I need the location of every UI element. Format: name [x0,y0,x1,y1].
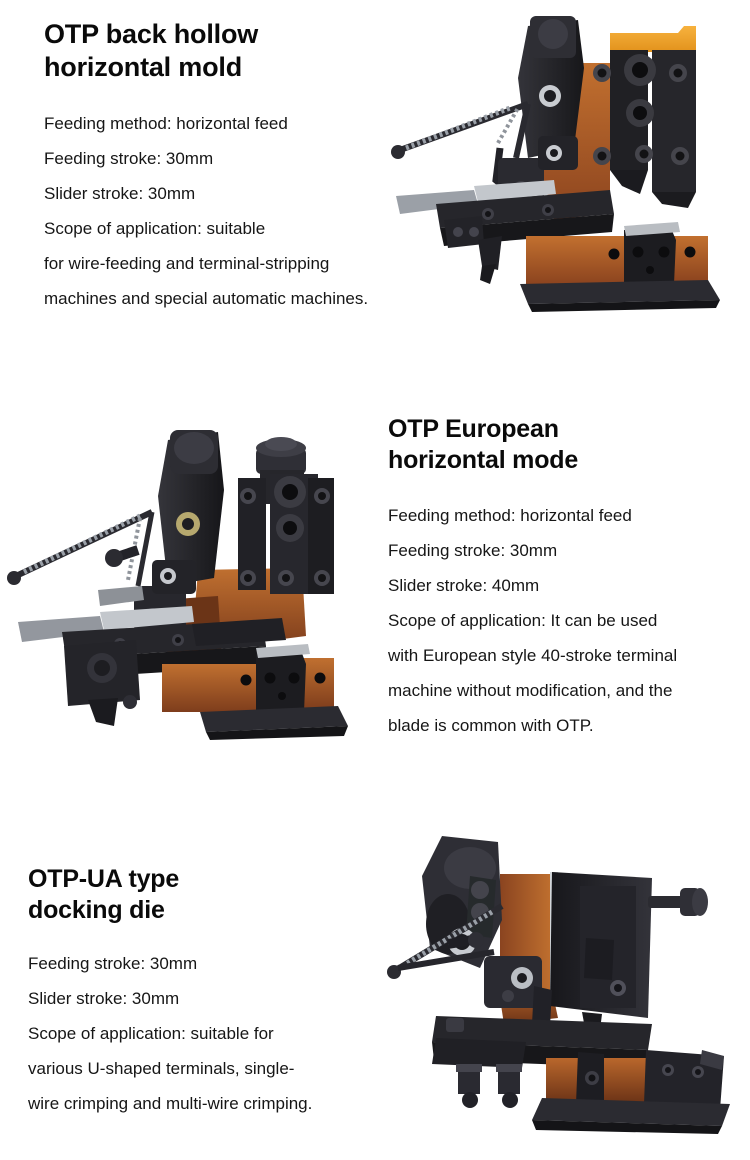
spec-item: Slider stroke: 30mm [28,981,358,1016]
product-specification-page: OTP back hollow horizontal mold Feeding … [0,0,750,1160]
section-2-heading-line-1: OTP European [388,415,559,443]
section-1-text-block: OTP back hollow horizontal mold Feeding … [44,18,374,316]
spec-item: Slider stroke: 30mm [44,176,374,211]
section-2-heading-line-2: horizontal mode [388,446,578,474]
section-1-heading-line-1: OTP back hollow [44,19,258,49]
section-3-heading-line-2: docking die [28,896,165,924]
spec-item: for wire-feeding and terminal-stripping [44,246,374,281]
spec-item: Slider stroke: 40mm [388,568,736,603]
spec-item: Feeding stroke: 30mm [388,533,736,568]
section-2-spec-list: Feeding method: horizontal feed Feeding … [388,498,736,743]
spec-item: Feeding method: horizontal feed [388,498,736,533]
crimping-applicator-illustration [378,8,746,320]
spec-item: Feeding stroke: 30mm [28,946,358,981]
docking-die-illustration [380,828,748,1158]
spec-item: Scope of application: suitable [44,211,374,246]
spec-item: various U-shaped terminals, single- [28,1051,358,1086]
spec-item: Feeding method: horizontal feed [44,106,374,141]
section-1-product-image [378,8,746,320]
spec-item: Feeding stroke: 30mm [44,141,374,176]
spec-item: blade is common with OTP. [388,708,736,743]
spec-item: wire crimping and multi-wire crimping. [28,1086,358,1121]
spec-item: Scope of application: suitable for [28,1016,358,1051]
section-3-heading-line-1: OTP-UA type [28,865,179,893]
section-3-text-block: OTP-UA type docking die Feeding stroke: … [28,864,358,1121]
spec-item: machine without modification, and the [388,673,736,708]
crimping-applicator-illustration [2,400,370,740]
section-2-heading: OTP European horizontal mode [388,414,736,476]
section-2-text-block: OTP European horizontal mode Feeding met… [388,414,736,743]
section-1-spec-list: Feeding method: horizontal feed Feeding … [44,106,374,316]
section-3-spec-list: Feeding stroke: 30mm Slider stroke: 30mm… [28,946,358,1121]
spec-item: machines and special automatic machines. [44,281,374,316]
section-2-product-image [2,400,370,740]
spec-item: Scope of application: It can be used [388,603,736,638]
spec-item: with European style 40-stroke terminal [388,638,736,673]
section-3-heading: OTP-UA type docking die [28,864,358,926]
section-1-heading: OTP back hollow horizontal mold [44,18,374,84]
section-1-heading-line-2: horizontal mold [44,52,242,82]
section-3-product-image [380,828,748,1158]
